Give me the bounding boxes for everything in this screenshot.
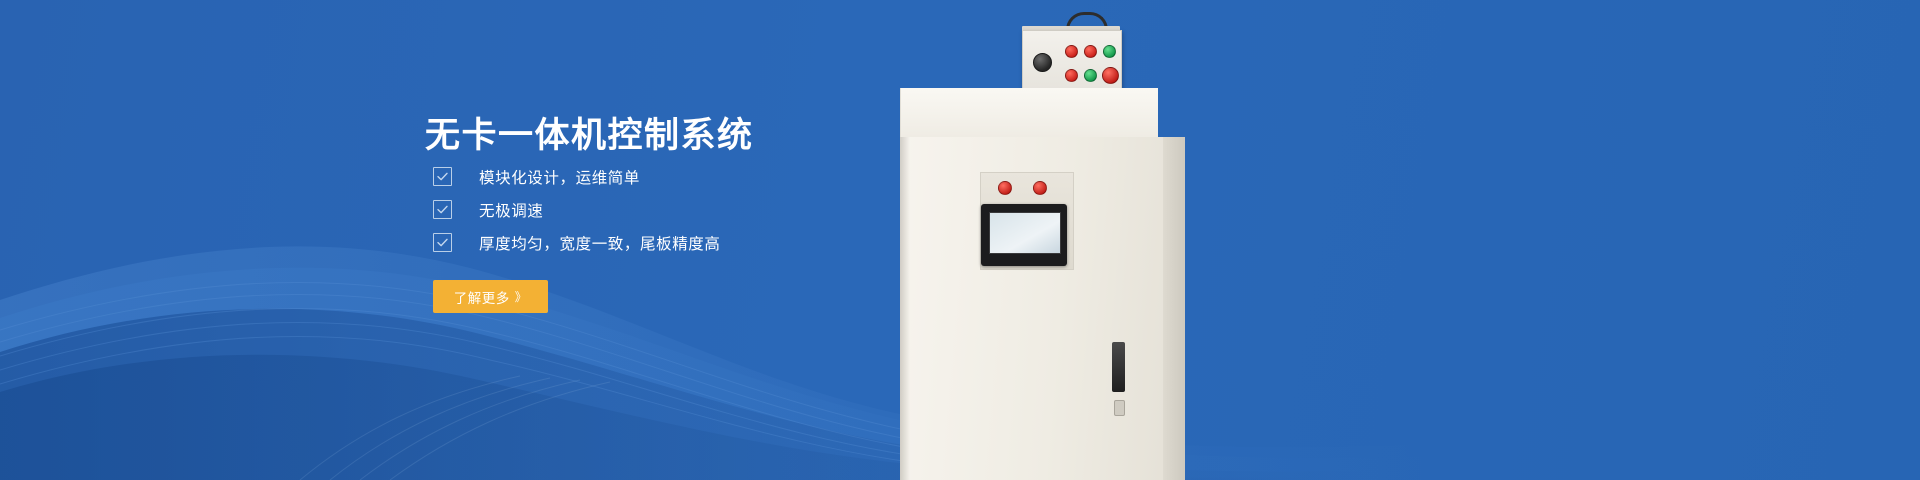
- operator-control-panel: [1022, 30, 1122, 94]
- cabinet-top-section: [900, 88, 1158, 137]
- cabinet-door-handle: [1112, 342, 1125, 392]
- checkbox-checked-icon: [433, 233, 452, 252]
- indicator-red-1: [1065, 45, 1078, 58]
- list-item: 无极调速: [433, 193, 721, 226]
- indicator-green-2: [1084, 69, 1097, 82]
- list-item: 模块化设计，运维简单: [433, 160, 721, 193]
- product-image-control-cabinet: [880, 0, 1210, 480]
- feature-label: 模块化设计，运维简单: [479, 166, 640, 188]
- chevron-right-icon: 》: [515, 288, 528, 305]
- feature-list: 模块化设计，运维简单 无极调速 厚度均匀，宽度一致，尾板精度高: [433, 160, 721, 259]
- indicator-red-large: [1102, 67, 1119, 84]
- learn-more-label: 了解更多: [454, 287, 510, 307]
- hmi-light-left: [998, 181, 1012, 195]
- list-item: 厚度均匀，宽度一致，尾板精度高: [433, 226, 721, 259]
- indicator-red-3: [1065, 69, 1078, 82]
- learn-more-button[interactable]: 了解更多 》: [433, 280, 548, 313]
- banner-content: 无卡一体机控制系统 模块化设计，运维简单 无极调速: [425, 0, 945, 480]
- feature-label: 厚度均匀，宽度一致，尾板精度高: [479, 232, 721, 254]
- cabinet-door-lock: [1114, 400, 1125, 416]
- feature-label: 无极调速: [479, 199, 543, 221]
- rotary-selector-knob-icon: [1033, 53, 1052, 72]
- hero-banner: 无卡一体机控制系统 模块化设计，运维简单 无极调速: [0, 0, 1920, 480]
- screen-surface: [989, 212, 1061, 254]
- checkbox-checked-icon: [433, 200, 452, 219]
- indicator-green-1: [1103, 45, 1116, 58]
- checkbox-checked-icon: [433, 167, 452, 186]
- hmi-light-right: [1033, 181, 1047, 195]
- touchscreen-display: [981, 204, 1067, 266]
- cabinet-door-edge: [1163, 137, 1185, 480]
- indicator-red-2: [1084, 45, 1097, 58]
- page-title: 无卡一体机控制系统: [425, 115, 754, 157]
- cabinet-left-shadow: [900, 137, 910, 480]
